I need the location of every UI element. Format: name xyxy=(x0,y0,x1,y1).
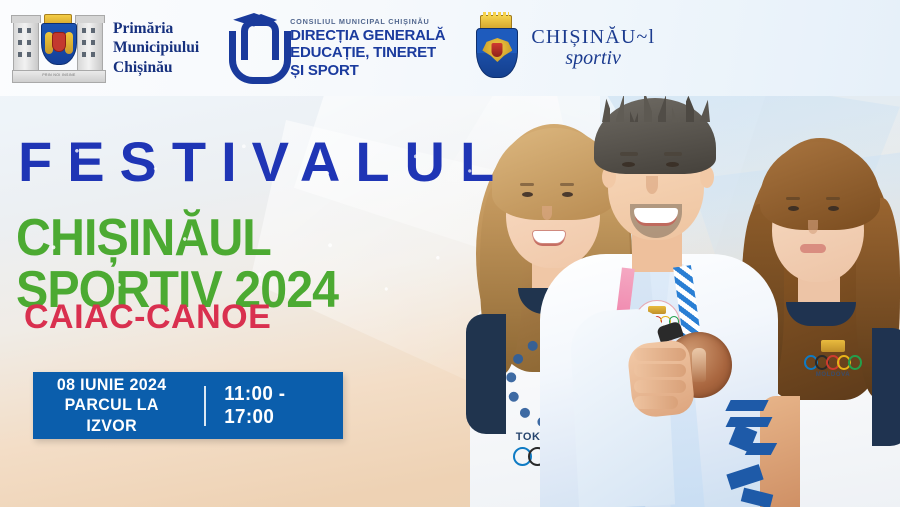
discipline-label: CAIAC-CANOE xyxy=(24,298,271,337)
logo-dgets-line-3: ȘI SPORT xyxy=(290,62,445,79)
event-date-venue: 08 IUNIE 2024 PARCUL LA IZVOR xyxy=(38,375,198,435)
poster-text-content: FESTIVALUL CHIȘINĂUL SPORTIV 2024 CAIAC-… xyxy=(0,96,520,507)
info-divider xyxy=(204,386,206,426)
event-info-box: 08 IUNIE 2024 PARCUL LA IZVOR 11:00 - 17… xyxy=(33,372,343,439)
logo-dgets-line-2: EDUCAȚIE, TINERET xyxy=(290,44,445,61)
event-date: 08 IUNIE 2024 xyxy=(38,375,185,395)
event-time: 11:00 - 17:00 xyxy=(210,383,339,429)
logo-dgets-text: CONSILIUL MUNICIPAL CHIȘINĂU DIRECȚIA GE… xyxy=(290,17,445,79)
logo-primaria-municipiului-chisinau: PRIN NOI INSINE Primăria Municipiului Ch… xyxy=(12,11,199,85)
moldova-olympic-emblem-icon: MOLDOVA xyxy=(804,340,862,398)
logo-primaria-line-1: Primăria xyxy=(113,19,199,38)
event-venue: PARCUL LA IZVOR xyxy=(38,395,185,435)
logo-chisinaul-sportiv-line-1: CHIȘINĂU~l xyxy=(531,26,655,49)
logo-dgets-eyebrow: CONSILIUL MUNICIPAL CHIȘINĂU xyxy=(290,17,445,26)
logo-primaria-line-3: Chișinău xyxy=(113,58,199,77)
header-logo-bar: PRIN NOI INSINE Primăria Municipiului Ch… xyxy=(0,0,900,96)
athlete-badge-caption: MOLDOVA xyxy=(804,372,862,378)
athlete-center-man xyxy=(538,96,778,507)
jacket-geometric-pattern xyxy=(704,367,776,507)
logo-chisinaul-sportiv-line-2: sportiv xyxy=(565,47,655,70)
event-poster: PRIN NOI INSINE Primăria Municipiului Ch… xyxy=(0,0,900,507)
dgets-emblem-icon xyxy=(225,13,281,83)
logo-dgets: CONSILIUL MUNICIPAL CHIȘINĂU DIRECȚIA GE… xyxy=(225,13,445,83)
logo-dgets-line-1: DIRECȚIA GENERALĂ xyxy=(290,27,445,44)
moldova-coat-of-arms-icon xyxy=(471,15,521,81)
logo-chisinaul-sportiv-text: CHIȘINĂU~l sportiv xyxy=(531,26,655,70)
logo-primaria-line-2: Municipiului xyxy=(113,38,199,57)
coat-of-arms-motto: PRIN NOI INSINE xyxy=(13,73,105,77)
chisinau-city-coat-of-arms-icon: PRIN NOI INSINE xyxy=(12,11,104,85)
logo-primaria-text: Primăria Municipiului Chișinău xyxy=(113,19,199,77)
logo-chisinaul-sportiv: CHIȘINĂU~l sportiv xyxy=(471,15,655,81)
page-title: FESTIVALUL xyxy=(18,134,509,190)
